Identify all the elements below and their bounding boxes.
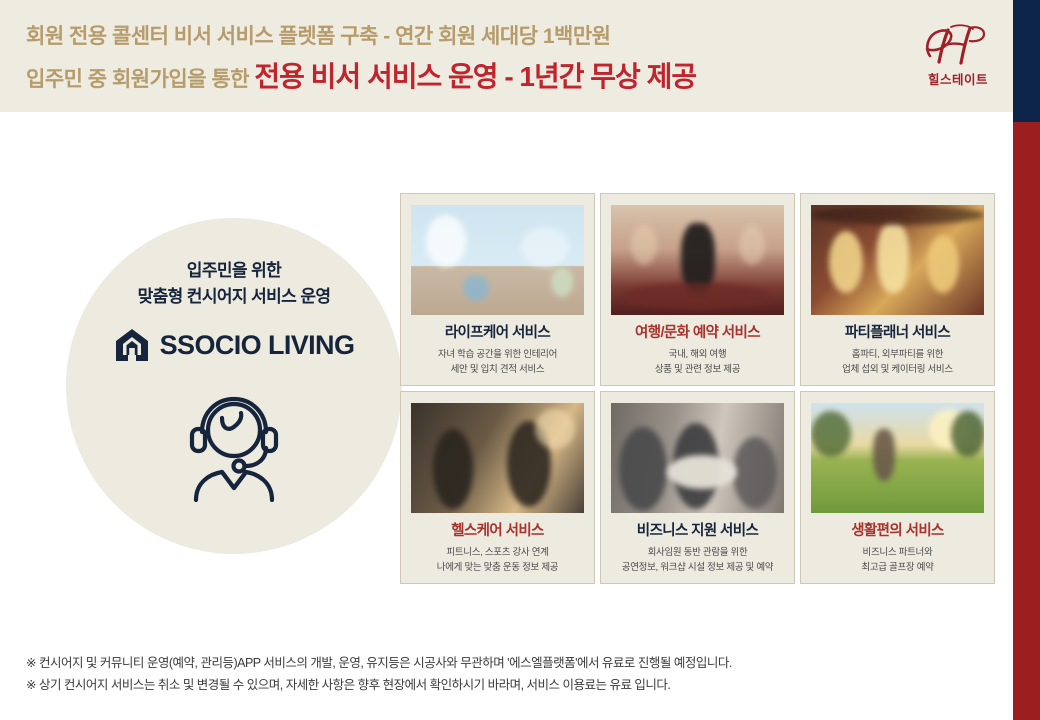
service-card-description: 국내, 해외 여행상품 및 관련 정보 제공 <box>655 347 740 377</box>
service-card[interactable]: 여행/문화 예약 서비스국내, 해외 여행상품 및 관련 정보 제공 <box>600 193 795 386</box>
service-card[interactable]: 비즈니스 지원 서비스회사임원 동반 관람을 위한공연정보, 워크샵 시설 정보… <box>600 391 795 584</box>
service-card-grid: 라이프케어 서비스자녀 학습 공간을 위한 인테리어세안 및 입치 견적 서비스… <box>400 193 995 584</box>
service-card-description-line2: 세안 및 입치 견적 서비스 <box>438 362 557 377</box>
service-card-description-line2: 최고급 골프장 예약 <box>861 560 933 575</box>
footer-note: ※ 상기 컨시어지 서비스는 취소 및 변경될 수 있으며, 자세한 사항은 향… <box>26 674 986 696</box>
service-card[interactable]: 파티플래너 서비스홈파티, 외부파티를 위한업체 섭외 및 케이터링 서비스 <box>800 193 995 386</box>
service-card-description-line2: 상품 및 관련 정보 제공 <box>655 362 740 377</box>
service-card[interactable]: 라이프케어 서비스자녀 학습 공간을 위한 인테리어세안 및 입치 견적 서비스 <box>400 193 595 386</box>
service-card-description: 홈파티, 외부파티를 위한업체 섭외 및 케이터링 서비스 <box>842 347 953 377</box>
service-card-description-line1: 자녀 학습 공간을 위한 인테리어 <box>438 347 557 362</box>
service-card-title: 여행/문화 예약 서비스 <box>635 324 760 342</box>
service-card-description: 회사임원 동반 관람을 위한공연정보, 워크샵 시설 정보 제공 및 예약 <box>622 545 773 575</box>
kids-study-room-photo <box>411 205 584 315</box>
header-title-block: 회원 전용 콜센터 비서 서비스 플렛폼 구축 - 연간 회원 세대당 1백만원… <box>26 20 886 102</box>
champagne-toast-photo <box>811 205 984 315</box>
service-card-description-line1: 피트니스, 스포츠 강사 연계 <box>437 545 558 560</box>
footer-note: ※ 컨시어지 및 커뮤니티 운영(예약, 관리등)APP 서비스의 개발, 운영… <box>26 652 986 674</box>
house-icon <box>114 328 150 362</box>
service-card-description-line2: 업체 섭외 및 케이터링 서비스 <box>842 362 953 377</box>
page-title-highlight: 전용 비서 서비스 운영 - 1년간 무상 제공 <box>254 61 696 92</box>
right-edge-navy-bar <box>1013 0 1040 122</box>
right-edge-red-bar <box>1013 122 1040 720</box>
service-card-title: 생활편의 서비스 <box>851 522 944 540</box>
service-card-description: 비즈니스 파트너와최고급 골프장 예약 <box>861 545 933 575</box>
header-subtitle: 회원 전용 콜센터 비서 서비스 플렛폼 구축 - 연간 회원 세대당 1백만원 <box>26 20 886 54</box>
page-title-prefix: 입주민 중 회원가입을 통한 <box>26 68 254 91</box>
service-card-title: 비즈니스 지원 서비스 <box>637 522 759 540</box>
script-h-monogram-icon <box>918 22 998 68</box>
gym-training-photo <box>411 403 584 513</box>
page-title: 입주민 중 회원가입을 통한 전용 비서 서비스 운영 - 1년간 무상 제공 <box>26 57 886 102</box>
business-meeting-photo <box>611 403 784 513</box>
brand-logo: 힐스테이트 <box>915 22 1001 94</box>
service-card-description-line1: 비즈니스 파트너와 <box>861 545 933 560</box>
service-card-description-line1: 국내, 해외 여행 <box>655 347 740 362</box>
service-card-description: 피트니스, 스포츠 강사 연계나에게 맞는 맞춤 운동 정보 제공 <box>437 545 558 575</box>
service-card-description-line2: 공연정보, 워크샵 시설 정보 제공 및 예약 <box>622 560 773 575</box>
service-card[interactable]: 헬스케어 서비스피트니스, 스포츠 강사 연계나에게 맞는 맞춤 운동 정보 제… <box>400 391 595 584</box>
service-card-title: 파티플래너 서비스 <box>845 324 950 342</box>
brand-name: 힐스테이트 <box>915 69 1001 88</box>
service-card-title: 헬스케어 서비스 <box>451 522 544 540</box>
service-card-description-line1: 홈파티, 외부파티를 위한 <box>842 347 953 362</box>
footer-notes: ※ 컨시어지 및 커뮤니티 운영(예약, 관리등)APP 서비스의 개발, 운영… <box>26 652 986 696</box>
concierge-heading: 입주민을 위한 맞춤형 컨시어지 서비스 운영 <box>138 258 331 310</box>
concierge-heading-line2: 맞춤형 컨시어지 서비스 운영 <box>138 284 331 310</box>
service-card-title: 라이프케어 서비스 <box>445 324 550 342</box>
service-card-description: 자녀 학습 공간을 위한 인테리어세안 및 입치 견적 서비스 <box>438 347 557 377</box>
ssocio-living-logo: SSOCIO LIVING <box>114 328 355 362</box>
ssocio-living-wordmark: SSOCIO LIVING <box>160 330 355 361</box>
service-card[interactable]: 생활편의 서비스비즈니스 파트너와최고급 골프장 예약 <box>800 391 995 584</box>
service-card-description-line1: 회사임원 동반 관람을 위한 <box>622 545 773 560</box>
service-card-description-line2: 나에게 맞는 맞춤 운동 정보 제공 <box>437 560 558 575</box>
concierge-panel: 입주민을 위한 맞춤형 컨시어지 서비스 운영 SSOCIO LIVING <box>66 218 402 554</box>
ballet-theater-photo <box>611 205 784 315</box>
headset-agent-icon <box>180 382 288 502</box>
concierge-heading-line1: 입주민을 위한 <box>138 258 331 284</box>
page-header: 회원 전용 콜센터 비서 서비스 플렛폼 구축 - 연간 회원 세대당 1백만원… <box>0 0 1013 112</box>
golf-course-photo <box>811 403 984 513</box>
